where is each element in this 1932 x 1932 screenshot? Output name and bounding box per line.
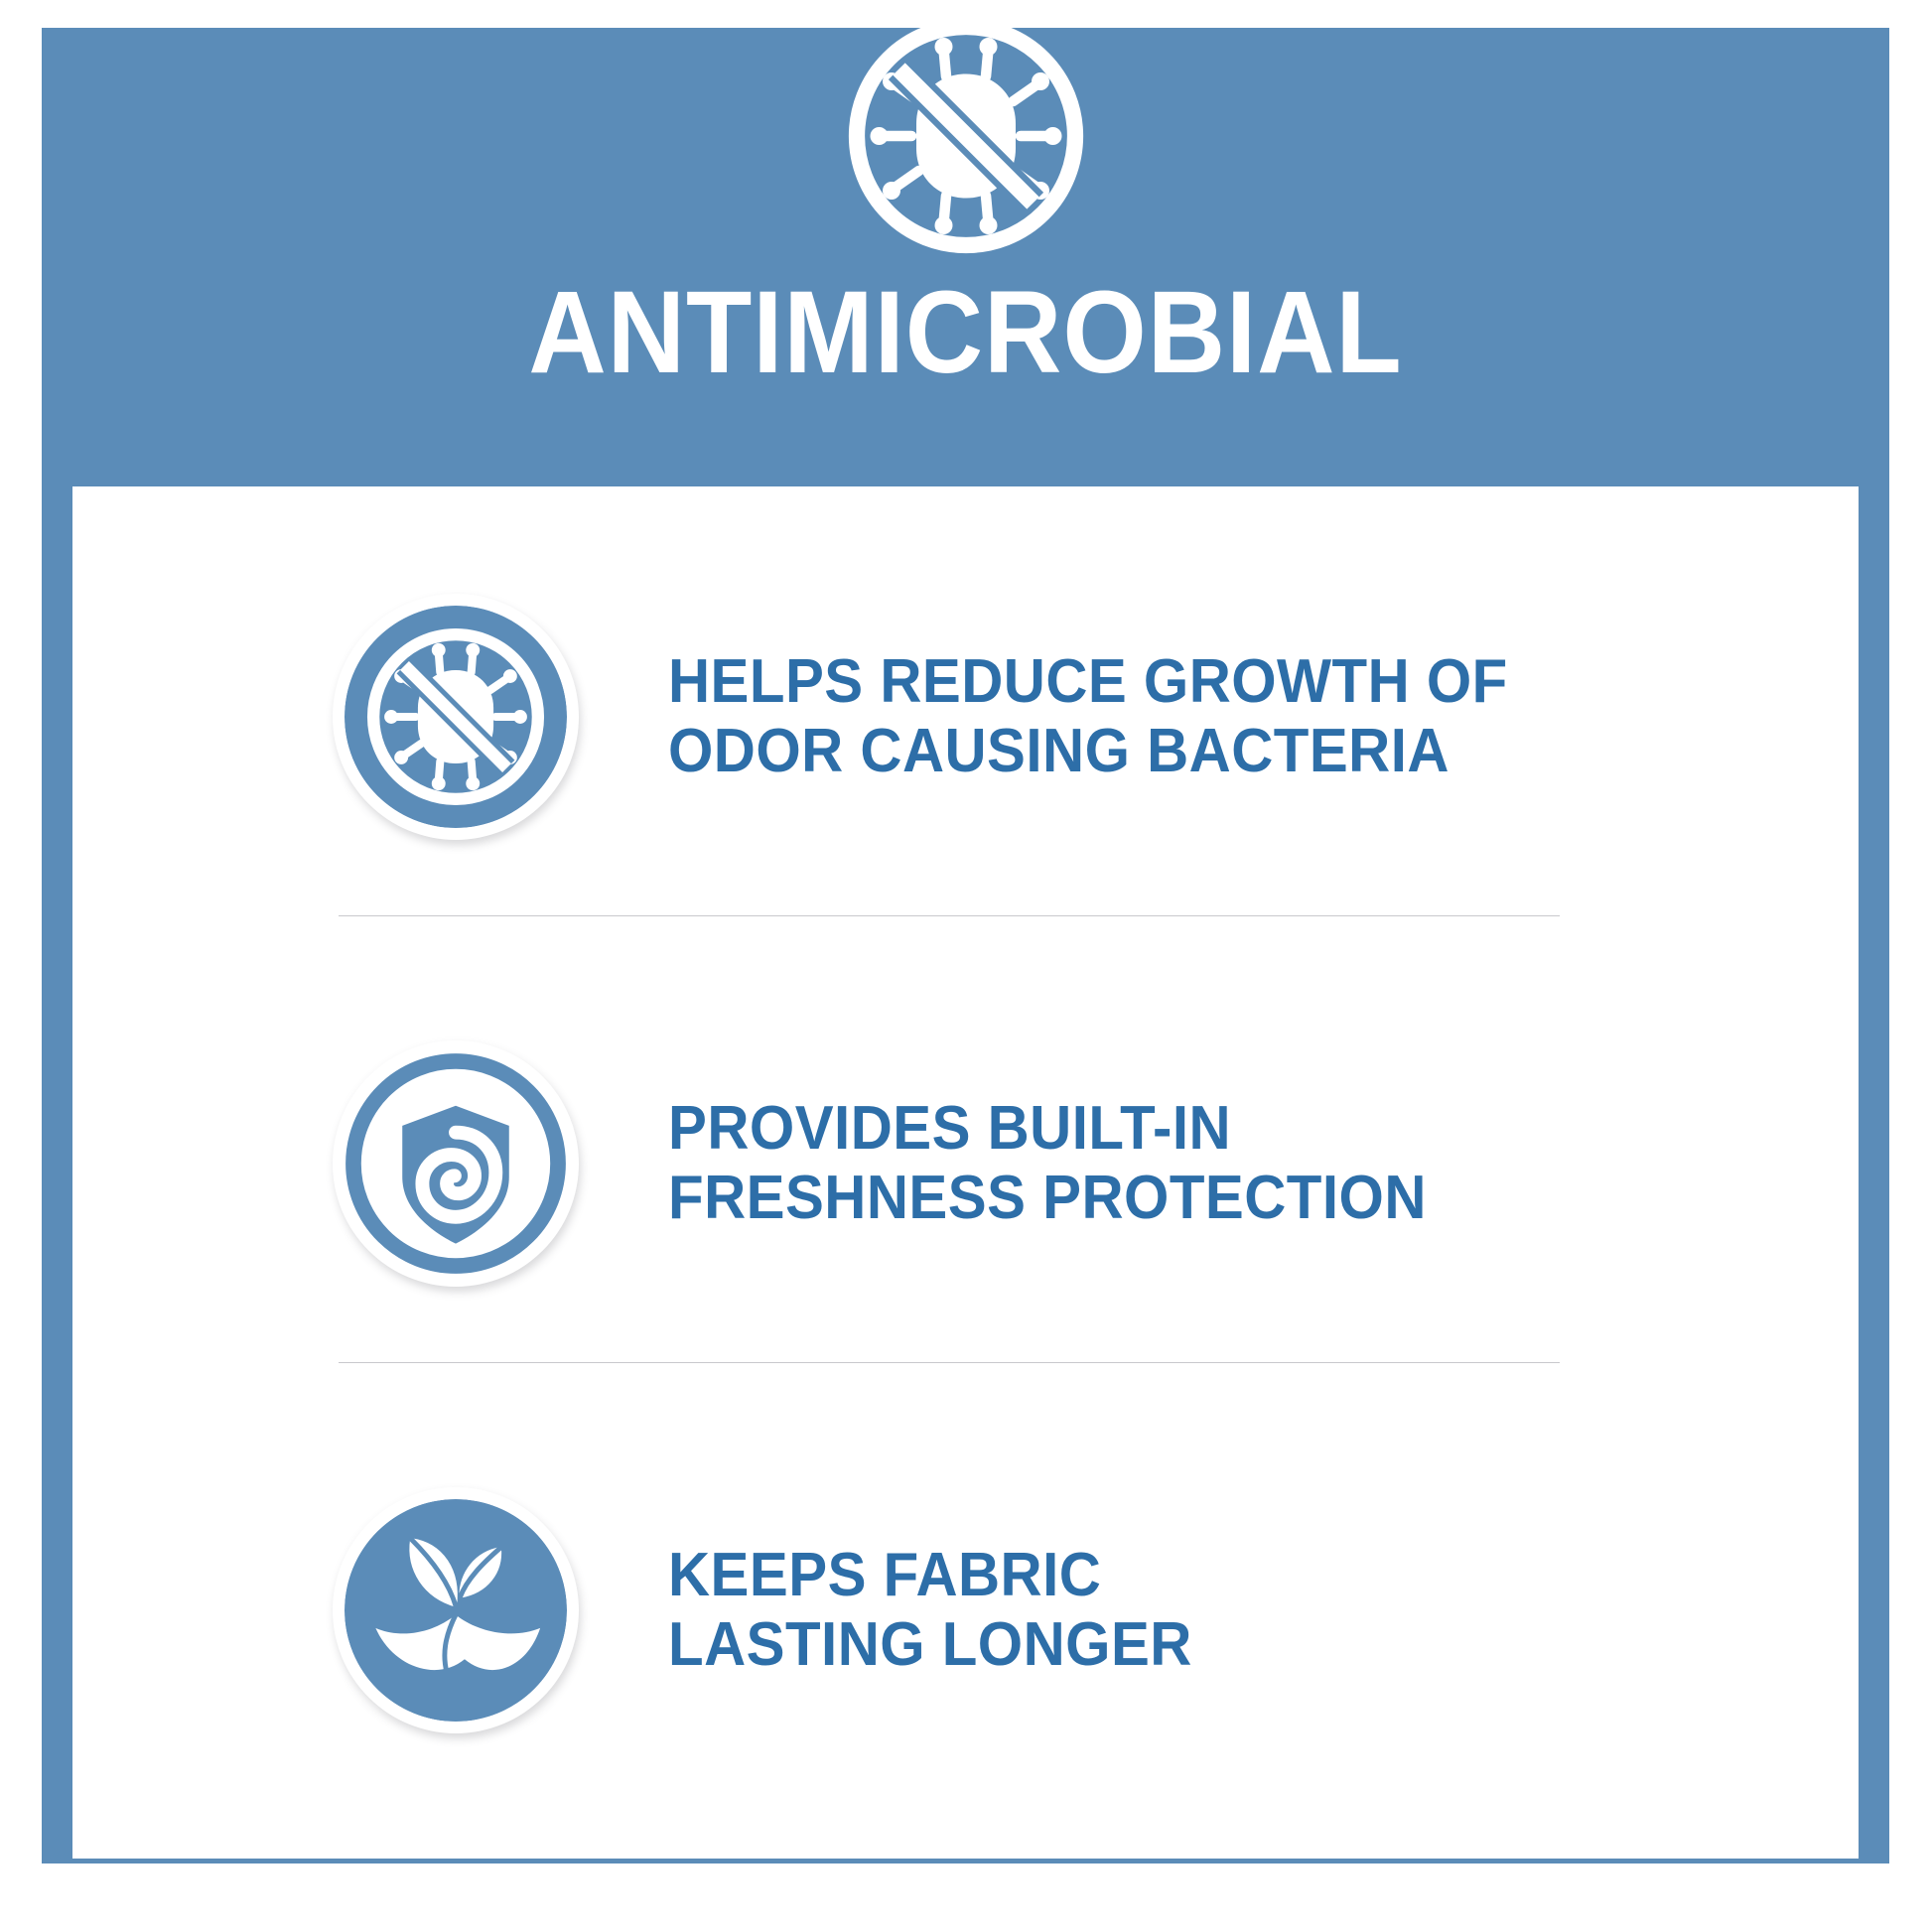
frame-rail-left xyxy=(42,28,68,1863)
shield-swirl-icon xyxy=(345,1052,567,1275)
frame-rail-right xyxy=(1863,28,1889,1863)
feature-icon-1 xyxy=(333,594,579,840)
leaf-sprout-icon xyxy=(345,1499,567,1722)
page-title: ANTIMICROBIAL xyxy=(115,274,1815,391)
feature-row-3: KEEPS FABRIC LASTING LONGER xyxy=(72,1422,1859,1799)
no-germ-icon xyxy=(345,606,567,828)
row-divider-2 xyxy=(339,1362,1560,1363)
antimicrobial-poster: ANTIMICROBIAL xyxy=(42,28,1889,1889)
features-card: HELPS REDUCE GROWTH OF ODOR CAUSING BACT… xyxy=(68,486,1863,1863)
no-germ-icon xyxy=(842,12,1090,260)
feature-row-1: HELPS REDUCE GROWTH OF ODOR CAUSING BACT… xyxy=(72,528,1859,905)
feature-icon-2 xyxy=(333,1040,579,1287)
feature-text-3: KEEPS FABRIC LASTING LONGER xyxy=(668,1541,1192,1680)
poster-header: ANTIMICROBIAL xyxy=(42,28,1889,486)
feature-row-2: PROVIDES BUILT-IN FRESHNESS PROTECTION xyxy=(72,975,1859,1352)
row-divider-1 xyxy=(339,915,1560,916)
feature-icon-3 xyxy=(333,1487,579,1733)
feature-text-1: HELPS REDUCE GROWTH OF ODOR CAUSING BACT… xyxy=(668,647,1508,786)
feature-text-2: PROVIDES BUILT-IN FRESHNESS PROTECTION xyxy=(668,1094,1427,1233)
features-list: HELPS REDUCE GROWTH OF ODOR CAUSING BACT… xyxy=(72,486,1859,1859)
